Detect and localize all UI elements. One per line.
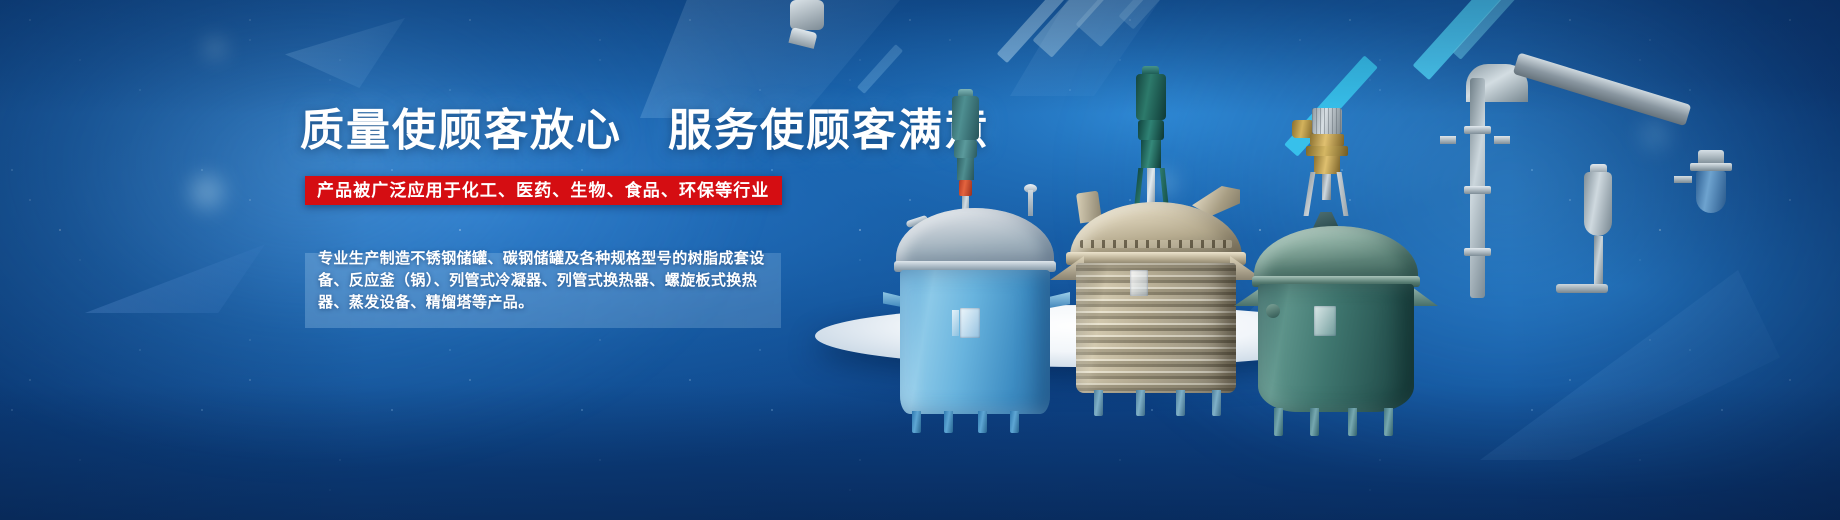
pipe-branch-right (1494, 136, 1510, 144)
vessel-leg (1348, 408, 1357, 436)
pipe-cap-icon (788, 27, 817, 49)
pipe-branch-left (1440, 136, 1456, 144)
vessel-leg (912, 411, 921, 433)
coupler-icon (954, 140, 977, 158)
vessel-leg (944, 411, 953, 433)
brass-coupling-1 (1310, 134, 1344, 146)
mechanical-seal-icon (959, 180, 972, 196)
vessel-leg (1212, 390, 1221, 416)
coupler-lower-icon (1141, 140, 1161, 168)
vessel-leg (1310, 408, 1319, 436)
coupler-icon (1138, 120, 1164, 140)
pipe-flange-ring (1464, 186, 1491, 194)
condenser-inlet-arm (1674, 176, 1692, 183)
sight-glass (1130, 270, 1148, 296)
floor-fade (790, 300, 1840, 378)
motor-icon (1136, 74, 1166, 120)
condenser-top-cap (1698, 150, 1724, 164)
vessel-leg (978, 411, 987, 433)
drum-base-support (1556, 284, 1608, 293)
drum-downcomer-pipe (1594, 236, 1603, 288)
agitator-shaft-icon (1147, 168, 1155, 204)
motor-icon (952, 96, 979, 140)
pipe-joint (790, 0, 824, 30)
banner-description: 专业生产制造不锈钢储罐、碳钢储罐及各种规格型号的树脂成套设备、反应釜（锅）、列管… (318, 248, 778, 314)
condenser-body (1696, 171, 1726, 213)
motor-fins-icon (1312, 108, 1342, 134)
coupler-lower-icon (957, 158, 974, 180)
pipe-flange-ring (1464, 248, 1491, 256)
product-scene (790, 0, 1840, 520)
support-frame-right (1337, 172, 1349, 216)
pipe-flange-ring (1464, 126, 1491, 134)
condenser-flange (1690, 163, 1732, 171)
vessel-leg (1136, 390, 1145, 416)
small-blue-condenser (1688, 150, 1734, 228)
condenser-diagonal-pipe (1513, 52, 1692, 126)
brass-coupling-2 (1306, 146, 1348, 156)
agitator-shaft-icon (1322, 174, 1331, 200)
vessel-dome (1254, 226, 1418, 282)
promo-banner: 质量使顾客放心 服务使顾客满意 产品被广泛应用于化工、医药、生物、食品、环保等行… (0, 0, 1840, 520)
vessel-leg (1010, 411, 1019, 433)
rivet-band (1080, 240, 1232, 248)
probe-icon (1028, 190, 1033, 216)
vessel-leg (1094, 390, 1103, 416)
vessel-leg (1274, 408, 1283, 436)
support-frame-left (1304, 172, 1316, 216)
banner-text-content: 质量使顾客放心 服务使顾客满意 产品被广泛应用于化工、医药、生物、食品、环保等行… (0, 0, 840, 520)
red-highlight-badge: 产品被广泛应用于化工、医药、生物、食品、环保等行业 (305, 176, 782, 205)
red-badge-text: 产品被广泛应用于化工、医药、生物、食品、环保等行业 (317, 182, 770, 199)
vessel-leg (1176, 390, 1185, 416)
vessel-leg (1384, 408, 1393, 436)
receiver-drum (1584, 172, 1612, 236)
